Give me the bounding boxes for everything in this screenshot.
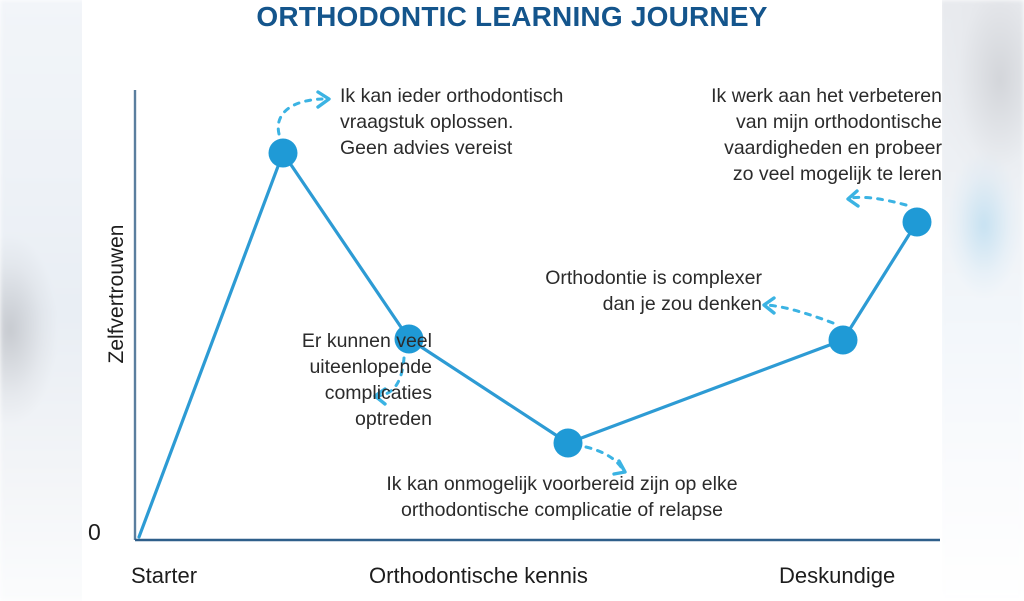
data-point-valley[interactable] bbox=[554, 429, 583, 458]
arrow-curve-bottom bbox=[586, 447, 623, 470]
annotation-left: Er kunnen veel uiteenlopende complicatie… bbox=[182, 329, 432, 433]
data-point-expert[interactable] bbox=[903, 208, 932, 237]
arrow-curve-peak bbox=[278, 99, 322, 134]
x-tick-label-expert: Deskundige bbox=[779, 563, 895, 589]
chart-card: ORTHODONTIC LEARNING JOURNEY bbox=[82, 0, 942, 601]
x-tick-label-starter: Starter bbox=[131, 563, 197, 589]
x-tick-label-kennis: Orthodontische kennis bbox=[369, 563, 588, 589]
data-point-peak[interactable] bbox=[269, 139, 298, 168]
background-blur-left bbox=[0, 0, 86, 601]
arrow-curve-topright bbox=[850, 197, 906, 205]
data-point-recover[interactable] bbox=[829, 326, 858, 355]
arrow-curve-middle bbox=[766, 305, 833, 323]
y-axis-zero-label: 0 bbox=[88, 519, 101, 546]
y-axis-label: Zelfvertrouwen bbox=[105, 194, 129, 394]
annotation-peak: Ik kan ieder orthodontisch vraagstuk opl… bbox=[340, 84, 563, 162]
annotation-bottom: Ik kan onmogelijk voorbereid zijn op elk… bbox=[302, 472, 822, 524]
screenshot-root: ORTHODONTIC LEARNING JOURNEY bbox=[0, 0, 1024, 601]
annotation-top-right: Ik werk aan het verbeteren van mijn orth… bbox=[562, 84, 942, 188]
background-blur-right bbox=[940, 0, 1024, 601]
annotation-middle: Orthodontie is complexer dan je zou denk… bbox=[412, 266, 762, 318]
